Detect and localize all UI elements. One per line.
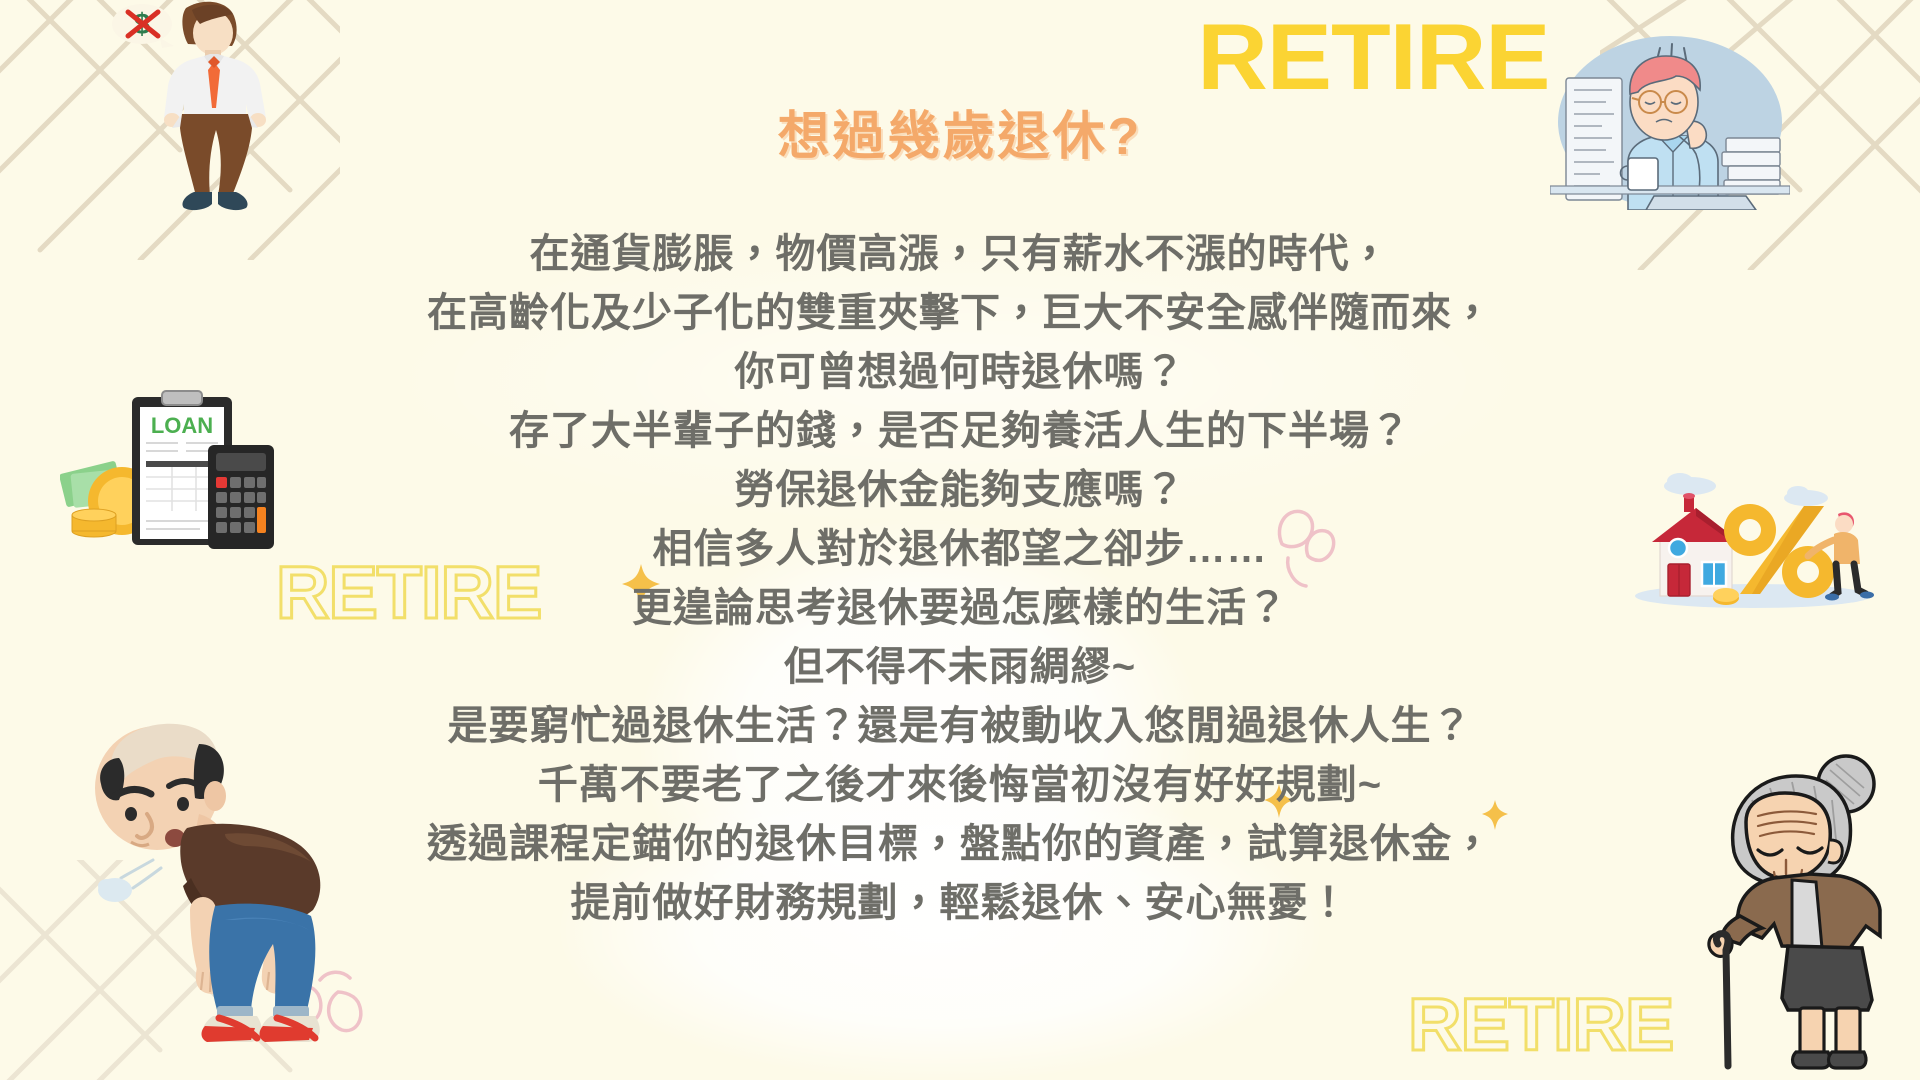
page-title: 想過幾歲退休?	[0, 94, 1920, 169]
body-line: 在高齡化及少子化的雙重夾擊下，巨大不安全感伴隨而來，	[0, 284, 1920, 343]
body-line: 提前做好財務規劃，輕鬆退休、安心無憂！	[0, 874, 1920, 933]
body-line: 存了大半輩子的錢，是否足夠養活人生的下半場？	[0, 402, 1920, 461]
retire-wordmark-outline-bottom: RETIRE	[1408, 988, 1673, 1062]
body-line: 相信多人對於退休都望之卻步……	[0, 520, 1920, 579]
body-line: 千萬不要老了之後才來後悔當初沒有好好規劃~	[0, 756, 1920, 815]
body-line: 在通貨膨脹，物價高漲，只有薪水不漲的時代，	[0, 225, 1920, 284]
body-line: 勞保退休金能夠支應嗎？	[0, 461, 1920, 520]
body-line: 是要窮忙過退休生活？還是有被動收入悠閒過退休人生？	[0, 697, 1920, 756]
body-line: 透過課程定錨你的退休目標，盤點你的資產，試算退休金，	[0, 815, 1920, 874]
body-line: 你可曾想過何時退休嗎？	[0, 343, 1920, 402]
body-line: 更遑論思考退休要過怎麼樣的生活？	[0, 579, 1920, 638]
body-line: 但不得不未雨綢繆~	[0, 638, 1920, 697]
body-copy-block: 在通貨膨脹，物價高漲，只有薪水不漲的時代， 在高齡化及少子化的雙重夾擊下，巨大不…	[0, 225, 1920, 933]
retirement-poster: $	[0, 0, 1920, 1080]
retire-wordmark-solid: RETIRE	[1197, 10, 1549, 104]
